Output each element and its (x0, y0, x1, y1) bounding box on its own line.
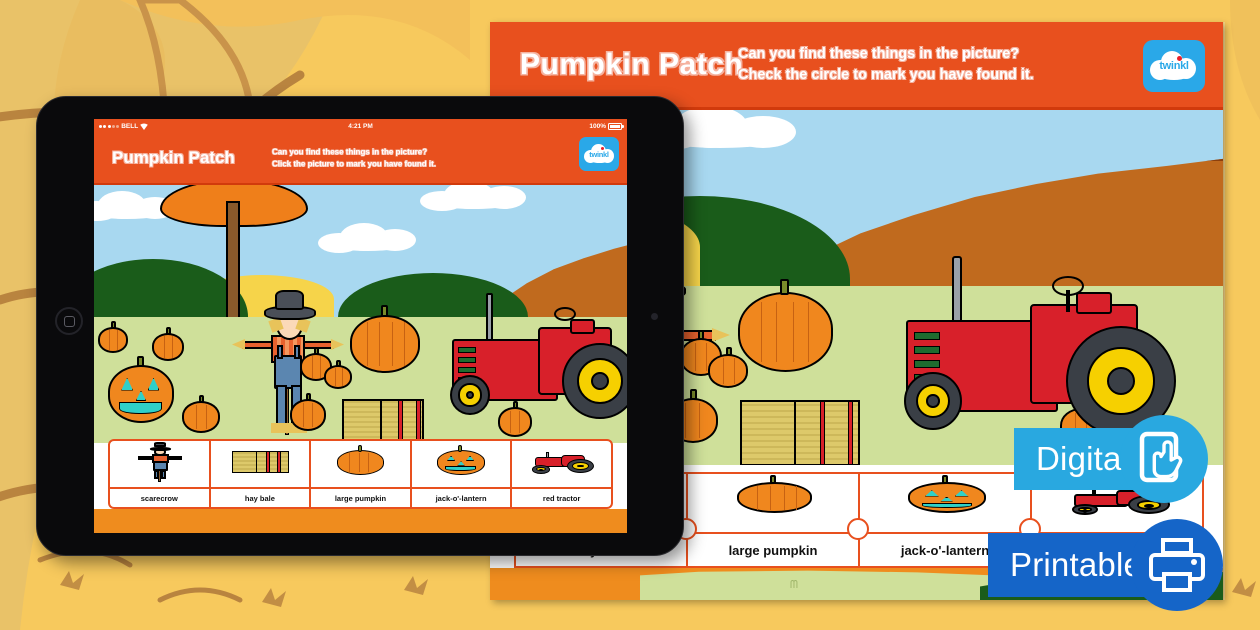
ipad-item-bar[interactable]: scarecrow hay bale (108, 439, 613, 509)
ipad-scene[interactable] (94, 185, 627, 443)
hay-bale (342, 399, 424, 443)
item-cell[interactable]: large pumpkin (688, 474, 860, 566)
item-label: hay bale (211, 487, 310, 507)
logo-dot (1177, 56, 1182, 61)
tractor-front-wheel (450, 375, 490, 415)
printable-instructions: Can you find these things in the picture… (738, 43, 1034, 85)
digital-badge[interactable]: Digital (1014, 428, 1195, 490)
large-pumpkin (350, 315, 420, 373)
small-pumpkin (708, 354, 748, 388)
twinkl-wordmark: twinkl (584, 144, 615, 164)
tablet-touch-icon (1120, 415, 1208, 503)
small-pumpkin (324, 365, 352, 389)
ipad-title: Pumpkin Patch (112, 148, 235, 168)
small-pumpkin (182, 401, 220, 433)
ipad-screen[interactable]: BELL 4:21 PM 100% Pumpkin Patch Can you … (94, 119, 627, 533)
ipad-instructions: Can you find these things in the picture… (272, 146, 436, 169)
pumpkin-icon (311, 441, 410, 487)
ipad-device[interactable]: BELL 4:21 PM 100% Pumpkin Patch Can you … (36, 96, 684, 556)
item-label: large pumpkin (688, 532, 858, 566)
item-cell[interactable]: large pumpkin (311, 441, 412, 507)
red-tractor (428, 297, 627, 443)
ipad-header: Pumpkin Patch Can you find these things … (94, 133, 627, 185)
autumn-tree-trunk (226, 201, 240, 323)
printable-title: Pumpkin Patch (520, 48, 743, 82)
hay-bale (740, 400, 860, 465)
instruction-line-1: Can you find these things in the picture… (738, 43, 1034, 64)
jack-o-lantern (108, 365, 174, 423)
item-label: red tractor (512, 487, 611, 507)
twinkl-logo[interactable]: twinkl (579, 137, 619, 171)
item-cell[interactable]: jack-o'-lantern (412, 441, 513, 507)
cloud-icon (420, 185, 530, 209)
printer-icon (1131, 519, 1223, 611)
battery-icon (608, 123, 622, 130)
status-time: 4:21 PM (94, 123, 627, 130)
instruction-line-1: Can you find these things in the picture… (272, 146, 436, 158)
cloud-icon: twinkl (584, 144, 615, 164)
status-bar: BELL 4:21 PM 100% (94, 119, 627, 133)
jack-o-lantern-icon (412, 441, 511, 487)
twinkl-logo[interactable]: twinkl (1143, 40, 1205, 92)
tractor-rear-wheel (562, 343, 627, 419)
pumpkin-icon (688, 474, 858, 532)
item-label: large pumpkin (311, 487, 410, 507)
cloud-icon: twinkl (1150, 51, 1198, 81)
cloud-icon (318, 223, 420, 251)
small-pumpkin (152, 333, 184, 361)
item-label: jack-o'-lantern (412, 487, 511, 507)
battery-percent: 100% (589, 123, 606, 130)
large-pumpkin (738, 292, 833, 372)
twinkl-wordmark: twinkl (1150, 51, 1198, 81)
small-pumpkin (98, 327, 128, 353)
item-cell[interactable]: scarecrow (110, 441, 211, 507)
item-label: scarecrow (110, 487, 209, 507)
home-button[interactable] (55, 307, 83, 335)
home-square-icon (64, 316, 75, 327)
small-pumpkin (290, 399, 326, 431)
tractor-icon (512, 441, 611, 487)
tractor-front-wheel (904, 372, 962, 430)
printable-badge[interactable]: Printable (988, 533, 1208, 597)
scarecrow-icon (110, 441, 209, 487)
front-camera (651, 313, 658, 320)
jack-o-lantern-icon (860, 474, 1030, 532)
hay-bale-icon (211, 441, 310, 487)
instruction-line-2: Check the circle to mark you have found … (738, 65, 1034, 86)
ipad-lower-strip (94, 509, 627, 533)
status-right: 100% (589, 123, 622, 130)
item-cell[interactable]: hay bale (211, 441, 312, 507)
check-circle[interactable] (847, 518, 869, 540)
item-cell[interactable]: red tractor (512, 441, 611, 507)
instruction-line-2: Click the picture to mark you have found… (272, 158, 436, 170)
